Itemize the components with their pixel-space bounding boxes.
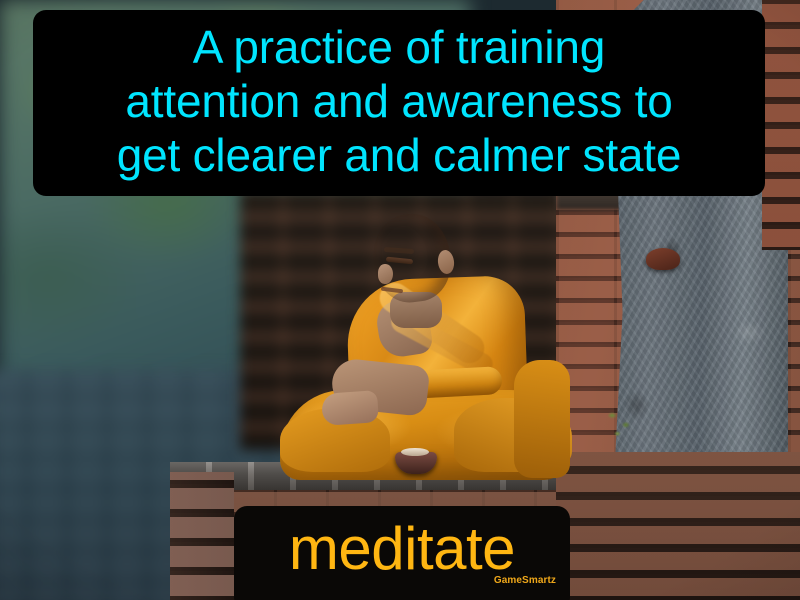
monk-nose — [378, 264, 393, 284]
stone-bowl-rim — [401, 448, 429, 456]
background-ledge-right — [556, 452, 800, 600]
monk-hands — [321, 390, 379, 426]
definition-card: A practice of training attention and awa… — [0, 0, 800, 600]
plant-sprig — [602, 404, 636, 442]
term-box: meditate GameSmartz — [234, 506, 570, 600]
definition-box: A practice of training attention and awa… — [33, 10, 765, 196]
term-label: meditate — [234, 518, 570, 580]
definition-line-3: get clearer and calmer state — [117, 128, 682, 182]
meditating-monk — [286, 212, 586, 480]
watermark-label: GameSmartz — [494, 575, 556, 586]
background-brick-edge — [762, 0, 800, 250]
background-stone-finial — [646, 248, 680, 270]
definition-line-2: attention and awareness to — [125, 74, 672, 128]
definition-line-1: A practice of training — [193, 20, 605, 74]
monk-robe-drape — [514, 360, 570, 478]
background-brick-column — [170, 472, 234, 600]
